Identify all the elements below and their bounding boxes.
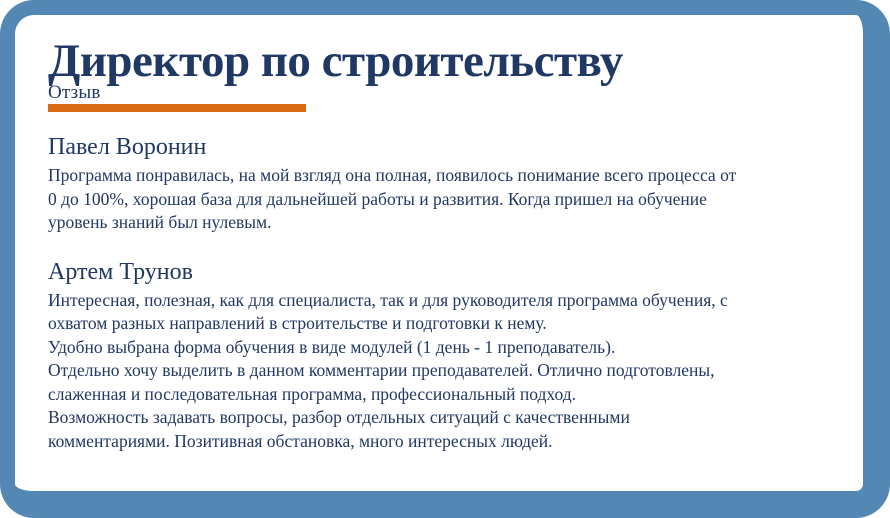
slide-subtitle: Отзыв: [48, 82, 306, 103]
review-text-line: охватом разных направлений в строительст…: [48, 312, 838, 336]
review-text-line: слаженная и последовательная программа, …: [48, 383, 838, 407]
accent-underline-bar: [48, 104, 306, 112]
subtitle-group: Отзыв: [48, 82, 306, 112]
reviewer-name: Павел Воронин: [48, 132, 838, 162]
slide-root: Директор по строительству Отзыв Павел Во…: [0, 0, 890, 518]
review-text-line: Интересная, полезная, как для специалист…: [48, 289, 838, 313]
reviews-list: Павел Воронин Программа понравилась, на …: [48, 132, 838, 453]
review-text-line: Возможность задавать вопросы, разбор отд…: [48, 406, 838, 430]
review-text-line: уровень знаний был нулевым.: [48, 211, 838, 235]
review-text-line: 0 до 100%, хорошая база для дальнейшей р…: [48, 188, 838, 212]
reviewer-name: Артем Трунов: [48, 257, 838, 287]
review-item: Павел Воронин Программа понравилась, на …: [48, 132, 838, 235]
slide-header: Директор по строительству Отзыв: [48, 36, 848, 112]
slide-canvas: Директор по строительству Отзыв Павел Во…: [15, 15, 863, 491]
review-text-line: Программа понравилась, на мой взгляд она…: [48, 164, 838, 188]
review-item: Артем Трунов Интересная, полезная, как д…: [48, 257, 838, 454]
review-text-line: Удобно выбрана форма обучения в виде мод…: [48, 336, 838, 360]
review-text-line: комментариями. Позитивная обстановка, мн…: [48, 430, 838, 454]
review-text-line: Отдельно хочу выделить в данном коммента…: [48, 359, 838, 383]
review-text: Программа понравилась, на мой взгляд она…: [48, 164, 838, 235]
page-title: Директор по строительству: [48, 36, 848, 86]
review-text: Интересная, полезная, как для специалист…: [48, 289, 838, 454]
